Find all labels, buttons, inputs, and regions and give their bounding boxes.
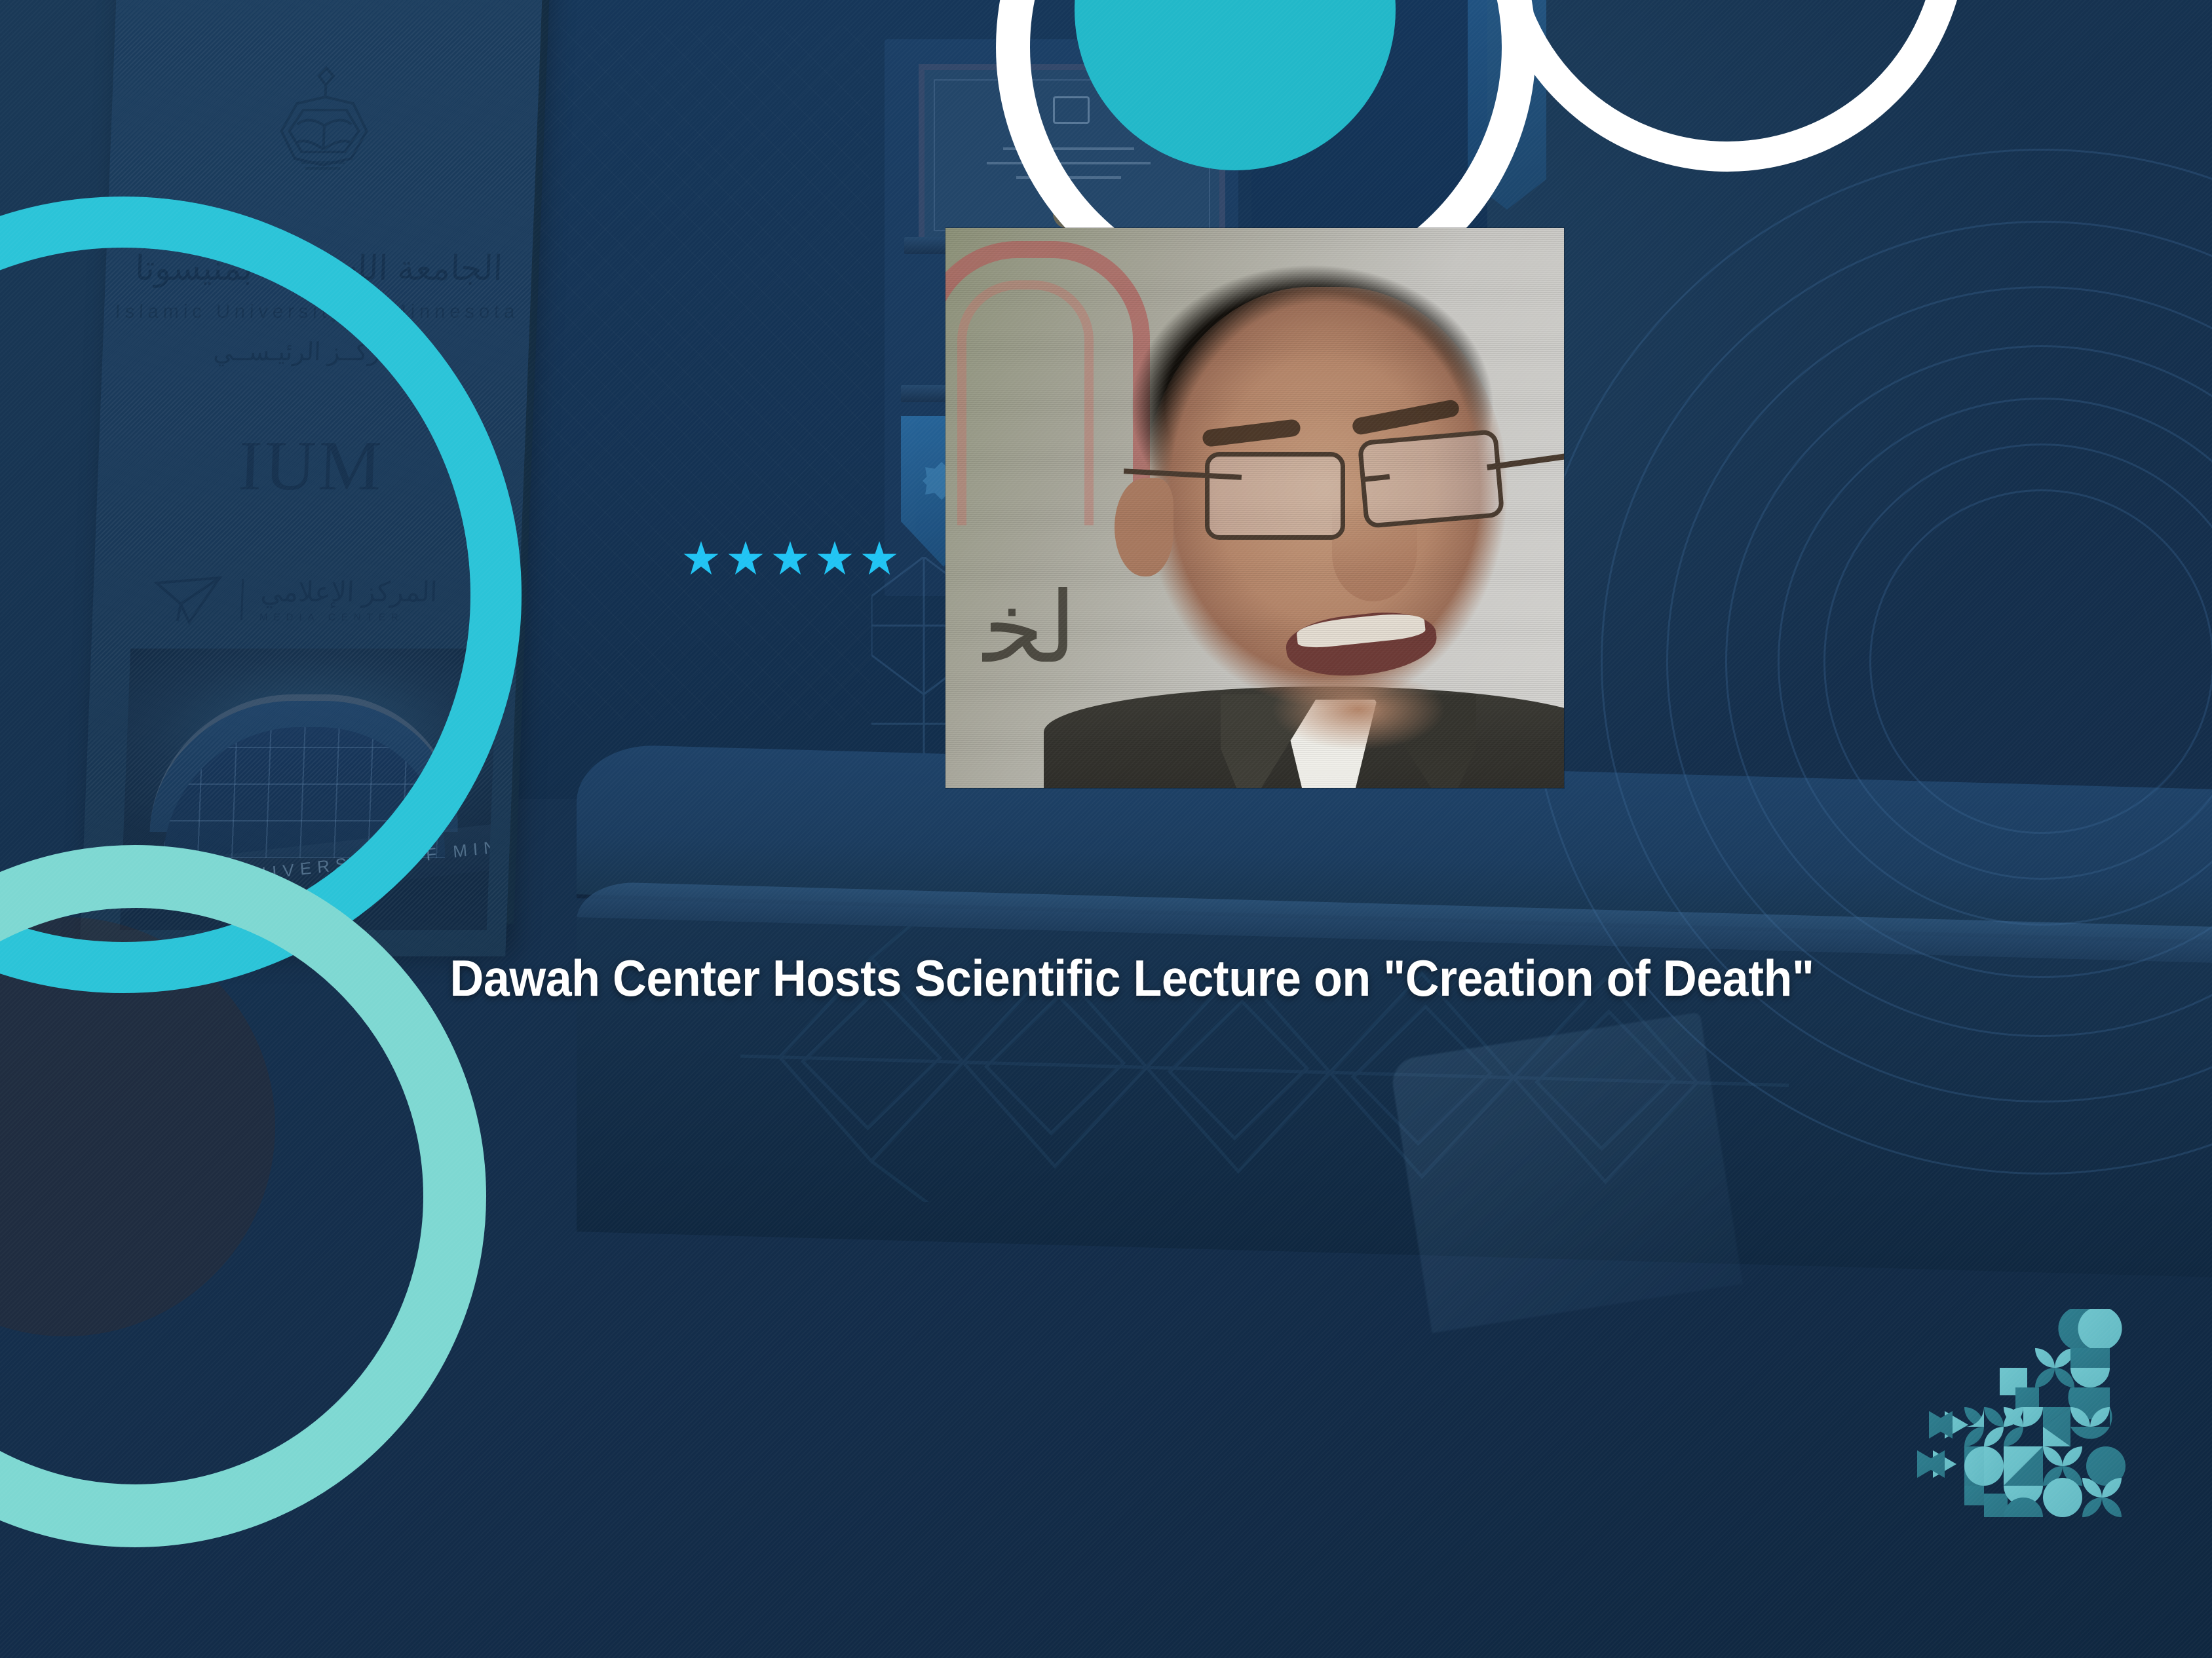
wall-panel xyxy=(529,26,870,721)
rating-stars xyxy=(683,541,897,576)
star-icon xyxy=(683,541,719,576)
headline-title: Dawah Center Hosts Scientific Lecture on… xyxy=(88,949,2124,1008)
graphic-card: الجامعة الإسلامية بمنيسوتا Islamic Unive… xyxy=(0,0,2212,1658)
geometric-mosaic-logo-icon xyxy=(1913,1297,2149,1533)
star-icon xyxy=(772,541,808,576)
podium-desk xyxy=(577,766,2212,1251)
octagram-book-logo-icon xyxy=(259,66,389,203)
star-icon xyxy=(817,541,852,576)
star-icon xyxy=(728,541,763,576)
desk-paper xyxy=(1389,1012,1743,1333)
speaker-photo: ﻟﺨ xyxy=(945,228,1564,788)
star-icon xyxy=(862,541,897,576)
